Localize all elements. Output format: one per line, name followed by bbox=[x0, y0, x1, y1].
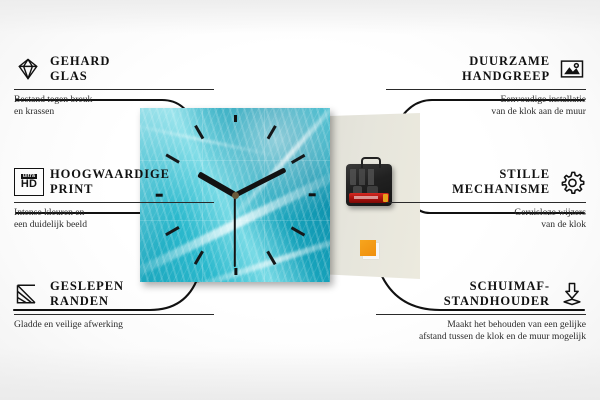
title-line: HOOGWAARDIGE bbox=[50, 167, 170, 181]
callout-divider bbox=[386, 202, 586, 203]
callout-description: Bestand tegen breuk en krassen bbox=[14, 94, 214, 118]
ultra-hd-badge: ultra HD bbox=[14, 168, 44, 196]
title-line: GLAS bbox=[50, 69, 88, 83]
glass-reflection-line bbox=[264, 108, 265, 282]
title-line: SCHUIMAF- bbox=[470, 279, 550, 293]
title-line: STILLE bbox=[499, 167, 550, 181]
callout-description: Intense kleuren en een duidelijk beeld bbox=[14, 207, 214, 231]
clock-tick bbox=[234, 268, 237, 275]
callout-title: GEHARD GLAS bbox=[50, 54, 110, 84]
diagonal-lines-icon bbox=[14, 280, 42, 308]
desc-line: Gladde en veilige afwerking bbox=[14, 319, 123, 330]
callout-divider bbox=[386, 89, 586, 90]
product-infographic: GEHARD GLAS Bestand tegen breuk en krass… bbox=[0, 0, 600, 400]
desc-line: Intense kleuren en bbox=[14, 207, 84, 218]
ultra-hd-icon: ultra HD bbox=[14, 168, 42, 196]
callout-divider bbox=[14, 202, 214, 203]
title-line: PRINT bbox=[50, 182, 93, 196]
clock-hand-second bbox=[234, 195, 236, 267]
callout-description: Eenvoudige installatie van de klok aan d… bbox=[386, 94, 586, 118]
diamond-icon bbox=[14, 55, 42, 83]
callout-stille-mechanisme: STILLE MECHANISME Geruisloze wijzers van… bbox=[386, 165, 586, 231]
clock-center-cap bbox=[232, 192, 239, 199]
hanger-loop bbox=[361, 157, 381, 168]
callout-divider bbox=[14, 314, 214, 315]
callout-schuimafstandhouder: SCHUIMAF- STANDHOUDER Maakt het behouden… bbox=[376, 277, 586, 343]
desc-line: Geruisloze wijzers bbox=[514, 207, 586, 218]
desc-line: van de klok bbox=[541, 219, 586, 230]
foam-spacer bbox=[360, 240, 376, 256]
desc-line: Eenvoudige installatie bbox=[500, 94, 586, 105]
callout-head: ultra HD HOOGWAARDIGE PRINT bbox=[14, 165, 214, 199]
callout-title: DUURZAME HANDGREEP bbox=[462, 54, 550, 84]
callout-title: GESLEPEN RANDEN bbox=[50, 279, 124, 309]
title-line: MECHANISME bbox=[452, 182, 550, 196]
movement-detail bbox=[350, 169, 388, 185]
desc-line: Bestand tegen breuk bbox=[14, 94, 92, 105]
desc-line: van de klok aan de muur bbox=[491, 106, 586, 117]
title-line: GEHARD bbox=[50, 54, 110, 68]
title-line: HANDGREEP bbox=[462, 69, 550, 83]
callout-gehard-glas: GEHARD GLAS Bestand tegen breuk en krass… bbox=[14, 52, 214, 118]
callout-head: GEHARD GLAS bbox=[14, 52, 214, 86]
title-line: DUURZAME bbox=[469, 54, 550, 68]
callout-title: SCHUIMAF- STANDHOUDER bbox=[444, 279, 550, 309]
hd-label: HD bbox=[21, 179, 37, 190]
callout-head: DUURZAME HANDGREEP bbox=[386, 52, 586, 86]
callout-title: STILLE MECHANISME bbox=[452, 167, 550, 197]
desc-line: afstand tussen de klok en de muur mogeli… bbox=[419, 331, 586, 342]
desc-line: Maakt het behouden van een gelijke bbox=[447, 319, 586, 330]
glass-reflection-line bbox=[140, 160, 330, 161]
callout-description: Geruisloze wijzers van de klok bbox=[386, 207, 586, 231]
callout-duurzame-handgreep: DUURZAME HANDGREEP Eenvoudige installati… bbox=[386, 52, 586, 118]
desc-line: een duidelijk beeld bbox=[14, 219, 87, 230]
desc-line: en krassen bbox=[14, 106, 54, 117]
clock-tick bbox=[234, 115, 237, 122]
title-line: RANDEN bbox=[50, 294, 109, 308]
callout-hoogwaardige-print: ultra HD HOOGWAARDIGE PRINT Intense kleu… bbox=[14, 165, 214, 231]
callout-geslepen-randen: GESLEPEN RANDEN Gladde en veilige afwerk… bbox=[14, 277, 214, 331]
battery bbox=[349, 193, 389, 203]
gear-icon bbox=[558, 168, 586, 196]
title-line: STANDHOUDER bbox=[444, 294, 550, 308]
callout-title: HOOGWAARDIGE PRINT bbox=[50, 167, 170, 197]
callout-head: STILLE MECHANISME bbox=[386, 165, 586, 199]
title-line: GESLEPEN bbox=[50, 279, 124, 293]
callout-head: GESLEPEN RANDEN bbox=[14, 277, 214, 311]
battery-label bbox=[354, 196, 378, 199]
callout-description: Maakt het behouden van een gelijke afsta… bbox=[376, 319, 586, 343]
callout-head: SCHUIMAF- STANDHOUDER bbox=[376, 277, 586, 311]
callout-divider bbox=[376, 314, 586, 315]
framed-picture-icon bbox=[558, 55, 586, 83]
clock-tick bbox=[308, 193, 315, 196]
callout-divider bbox=[14, 89, 214, 90]
callout-description: Gladde en veilige afwerking bbox=[14, 319, 214, 331]
press-down-icon bbox=[558, 280, 586, 308]
